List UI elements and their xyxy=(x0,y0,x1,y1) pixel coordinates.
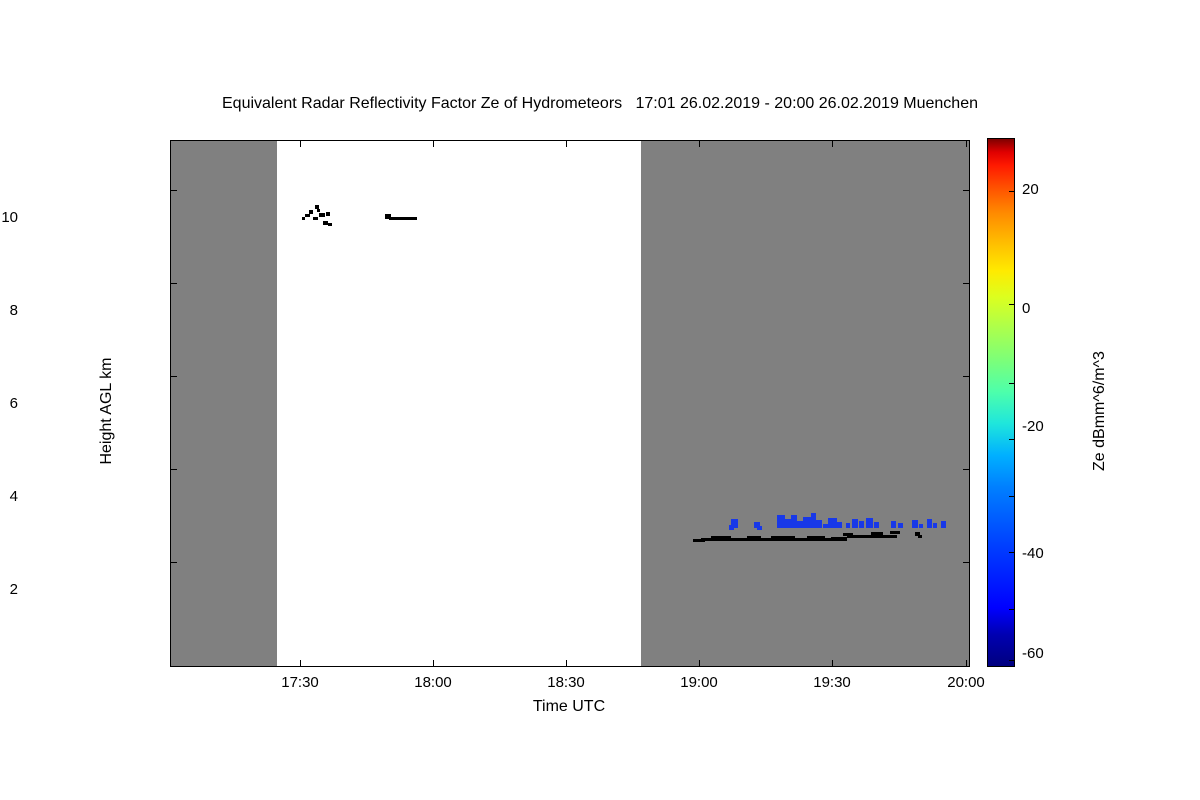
feature-high-cloud-streak xyxy=(385,214,417,220)
colorbar-title: Ze dBmm^6/m^3 xyxy=(1091,286,1109,536)
cbtick-m60 xyxy=(1009,660,1014,661)
xtick-label-1730: 17:30 xyxy=(281,674,319,691)
ytick-right-8 xyxy=(963,283,969,284)
xtick-top-1730 xyxy=(300,141,301,147)
ytick-label-6: 6 xyxy=(10,395,18,412)
no-data-band-left xyxy=(171,141,277,666)
colorbar xyxy=(987,138,1015,667)
xtick-top-1830 xyxy=(566,141,567,147)
cbtick-10 xyxy=(1009,304,1014,305)
cbtick-m10 xyxy=(1009,439,1014,440)
cbtick-label-m40: -40 xyxy=(1022,545,1044,562)
xtick-label-2000: 20:00 xyxy=(947,674,985,691)
ytick-label-8: 8 xyxy=(10,302,18,319)
ytick-right-2 xyxy=(963,562,969,563)
ytick-right-10 xyxy=(963,190,969,191)
y-axis-title: Height AGL km xyxy=(98,296,116,526)
xtick-inner-1800 xyxy=(433,660,434,666)
cbtick-m40 xyxy=(1009,609,1014,610)
plot-data-canvas xyxy=(171,141,969,666)
ytick-label-4: 4 xyxy=(10,488,18,505)
x-axis-title: Time UTC xyxy=(170,698,968,716)
xtick-top-2000 xyxy=(966,141,967,147)
ytick-right-6 xyxy=(963,376,969,377)
xtick-label-1830: 18:30 xyxy=(547,674,585,691)
ytick-inner-4 xyxy=(171,469,177,470)
colorbar-gradient xyxy=(988,139,1014,666)
cbtick-label-20: 20 xyxy=(1022,181,1039,198)
cbtick-20 xyxy=(1009,191,1014,192)
xtick-label-1900: 19:00 xyxy=(680,674,718,691)
cbtick-0 xyxy=(1009,383,1014,384)
no-data-band-right xyxy=(641,141,969,666)
xtick-top-1800 xyxy=(433,141,434,147)
chart-title: Equivalent Radar Reflectivity Factor Ze … xyxy=(0,95,1200,113)
ytick-label-10: 10 xyxy=(1,209,18,226)
figure-canvas: Equivalent Radar Reflectivity Factor Ze … xyxy=(0,0,1200,800)
ytick-inner-10 xyxy=(171,190,177,191)
xtick-inner-1730 xyxy=(300,660,301,666)
ytick-right-4 xyxy=(963,469,969,470)
xtick-inner-1930 xyxy=(832,660,833,666)
xtick-inner-1900 xyxy=(699,660,700,666)
xtick-inner-2000 xyxy=(966,660,967,666)
cbtick-label-m20: -20 xyxy=(1022,418,1044,435)
feature-high-cloud-cluster xyxy=(302,205,332,226)
xtick-inner-1830 xyxy=(566,660,567,666)
cbtick-label-0: 0 xyxy=(1022,300,1030,317)
cbtick-m20 xyxy=(1009,496,1014,497)
xtick-top-1930 xyxy=(832,141,833,147)
xtick-top-1900 xyxy=(699,141,700,147)
ytick-inner-6 xyxy=(171,376,177,377)
xtick-label-1930: 19:30 xyxy=(813,674,851,691)
cbtick-label-m60: -60 xyxy=(1022,645,1044,662)
ytick-label-2: 2 xyxy=(10,581,18,598)
xtick-label-1800: 18:00 xyxy=(414,674,452,691)
cbtick-m30 xyxy=(1009,552,1014,553)
ytick-inner-2 xyxy=(171,562,177,563)
plot-area xyxy=(170,140,970,667)
ytick-inner-8 xyxy=(171,283,177,284)
